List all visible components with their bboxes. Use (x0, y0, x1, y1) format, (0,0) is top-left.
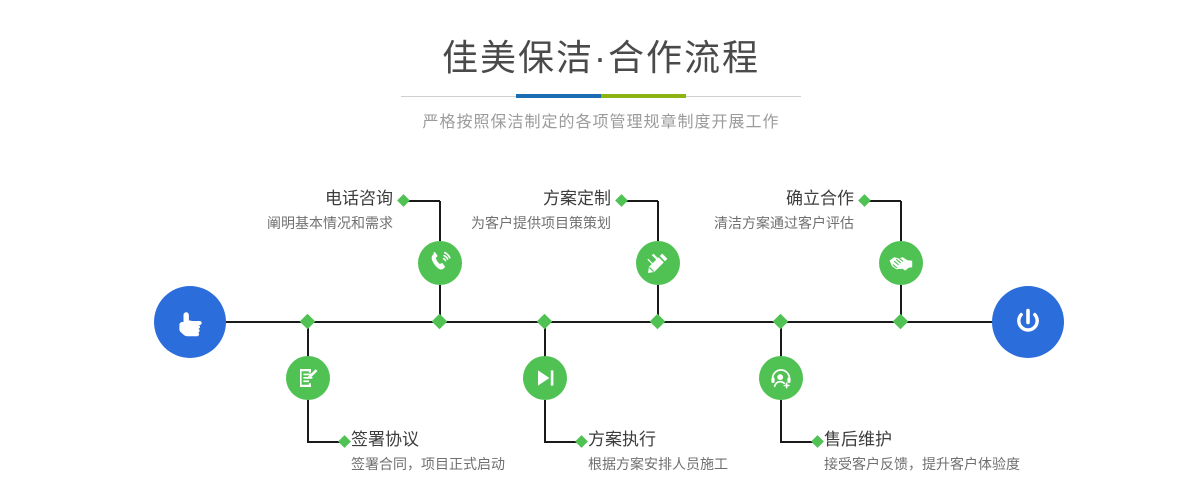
step-3-axis-diamond (650, 314, 666, 330)
step-6-title: 确立合作 (590, 188, 854, 210)
divider-segment-green (601, 94, 686, 98)
play-next-icon (532, 365, 558, 391)
pointing-hand-icon (170, 302, 210, 342)
step-1-icon-circle[interactable] (418, 241, 462, 285)
step-3-icon-circle[interactable] (636, 241, 680, 285)
step-5-icon-circle[interactable] (759, 356, 803, 400)
step-2-connector-vertical-lower (307, 400, 309, 442)
step-5-title: 售后维护 (824, 429, 1124, 451)
page-title: 佳美保洁·合作流程 (0, 36, 1202, 80)
page-subtitle: 严格按照保洁制定的各项管理规章制度开展工作 (0, 112, 1202, 134)
step-4-axis-diamond (537, 314, 553, 330)
step-4-icon-circle[interactable] (523, 356, 567, 400)
step-6-icon-circle[interactable] (879, 241, 923, 285)
timeline-end-node[interactable] (992, 286, 1064, 358)
power-icon (1008, 302, 1048, 342)
step-5-axis-diamond (773, 314, 789, 330)
step-2-axis-diamond (300, 314, 316, 330)
step-6-axis-diamond (893, 314, 909, 330)
timeline-start-node[interactable] (154, 286, 226, 358)
step-6-desc: 清洁方案通过客户评估 (590, 213, 854, 233)
step-6-label[interactable]: 确立合作 清洁方案通过客户评估 (590, 188, 854, 233)
step-5-desc: 接受客户反馈，提升客户体验度 (824, 454, 1124, 474)
step-2-icon-circle[interactable] (286, 356, 330, 400)
phone-call-icon (426, 249, 454, 277)
flowchart-page: 佳美保洁·合作流程 严格按照保洁制定的各项管理规章制度开展工作 (0, 0, 1202, 502)
step-2-label-diamond (338, 435, 351, 448)
step-6-label-diamond (858, 194, 871, 207)
step-2-desc: 签署合同，项目正式启动 (351, 454, 621, 474)
step-6-connector-vertical-upper (900, 201, 902, 241)
handshake-icon (887, 249, 915, 277)
step-4-desc: 根据方案安排人员施工 (588, 454, 858, 474)
document-edit-icon (295, 365, 321, 391)
pencil-ruler-icon (644, 249, 672, 277)
step-3-title: 方案定制 (347, 188, 611, 210)
step-1-axis-diamond (432, 314, 448, 330)
step-5-label[interactable]: 售后维护 接受客户反馈，提升客户体验度 (824, 429, 1124, 474)
step-3-label[interactable]: 方案定制 为客户提供项目策策划 (347, 188, 611, 233)
title-divider (401, 90, 801, 104)
page-header: 佳美保洁·合作流程 严格按照保洁制定的各项管理规章制度开展工作 (0, 0, 1202, 134)
headset-support-icon (768, 365, 794, 391)
step-3-desc: 为客户提供项目策策划 (347, 213, 611, 233)
divider-segment-blue (516, 94, 601, 98)
